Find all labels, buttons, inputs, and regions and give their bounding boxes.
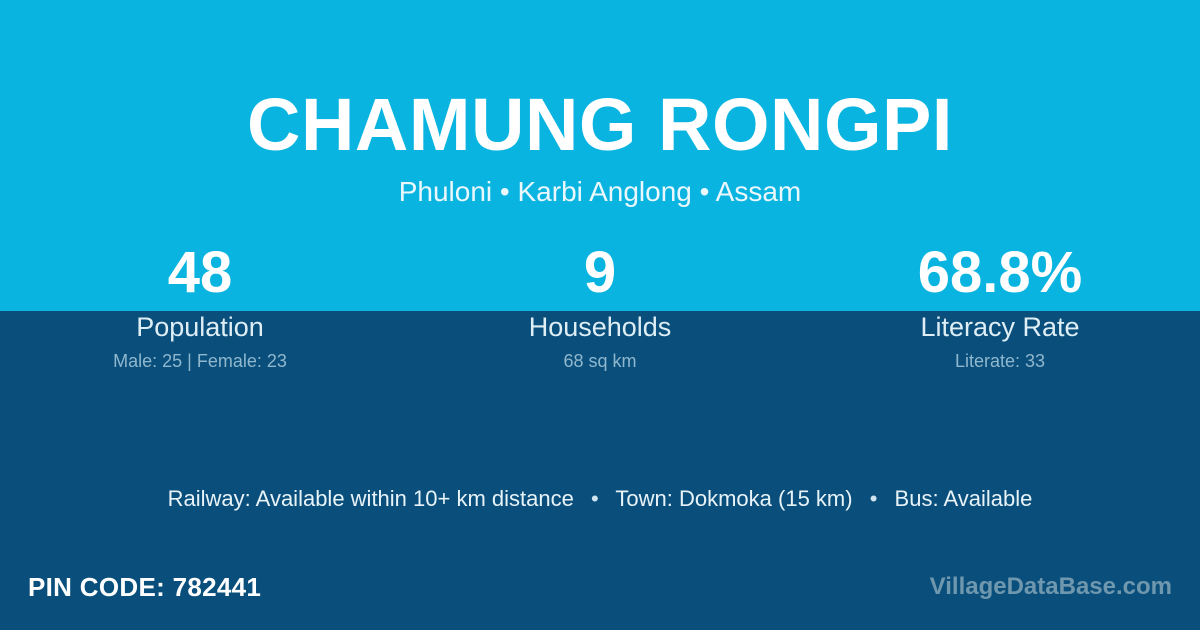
stat-value: 68.8% (800, 238, 1200, 308)
stat-sub: Male: 25 | Female: 23 (0, 349, 400, 373)
footer: PIN CODE: 782441 VillageDataBase.com (0, 544, 1200, 630)
stat-literacy-rate: 68.8% Literacy Rate Literate: 33 (800, 238, 1200, 373)
stats-row: 48 Population Male: 25 | Female: 23 9 Ho… (0, 238, 1200, 373)
stat-sub: 68 sq km (400, 349, 800, 373)
site-brand: VillageDataBase.com (930, 572, 1172, 602)
infra-railway: Railway: Available within 10+ km distanc… (168, 486, 574, 511)
infra-separator-icon: • (580, 484, 610, 514)
location-breadcrumb: Phuloni • Karbi Anglong • Assam (0, 168, 1200, 210)
page-title: CHAMUNG RONGPI (0, 0, 1200, 168)
infra-town: Town: Dokmoka (15 km) (615, 486, 852, 511)
stat-sub: Literate: 33 (800, 349, 1200, 373)
village-info-card: CHAMUNG RONGPI Phuloni • Karbi Anglong •… (0, 0, 1200, 630)
infra-separator-icon: • (859, 484, 889, 514)
stat-value: 48 (0, 238, 400, 308)
stat-label: Households (400, 310, 800, 344)
stat-label: Literacy Rate (800, 310, 1200, 344)
stat-value: 9 (400, 238, 800, 308)
infrastructure-line: Railway: Available within 10+ km distanc… (0, 484, 1200, 514)
stat-households: 9 Households 68 sq km (400, 238, 800, 373)
stat-label: Population (0, 310, 400, 344)
pin-code: PIN CODE: 782441 (28, 571, 261, 603)
header: CHAMUNG RONGPI Phuloni • Karbi Anglong •… (0, 0, 1200, 210)
infra-bus: Bus: Available (895, 486, 1033, 511)
stat-population: 48 Population Male: 25 | Female: 23 (0, 238, 400, 373)
